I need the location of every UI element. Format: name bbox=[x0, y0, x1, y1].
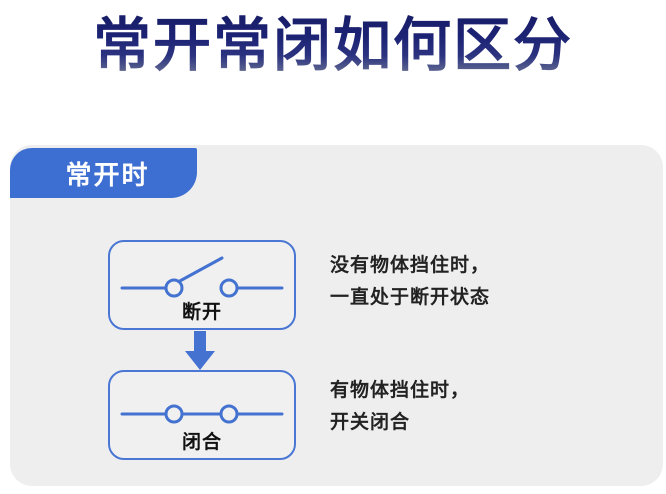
description-closed-line-1: 有物体挡住时， bbox=[330, 375, 470, 407]
description-closed-line-2: 开关闭合 bbox=[330, 407, 470, 439]
arrow-down-icon bbox=[183, 331, 217, 371]
switch-state-label-closed: 闭合 bbox=[110, 427, 294, 454]
description-open-line-2: 一直处于断开状态 bbox=[330, 282, 490, 314]
section-banner: 常开时 bbox=[10, 148, 197, 198]
section-banner-label: 常开时 bbox=[57, 155, 149, 192]
switch-state-label-open: 断开 bbox=[110, 297, 294, 324]
description-closed: 有物体挡住时， 开关闭合 bbox=[330, 375, 470, 439]
page-title: 常开常闭如何区分 bbox=[0, 6, 666, 86]
switch-box-closed: 闭合 bbox=[108, 370, 296, 460]
description-open-line-1: 没有物体挡住时， bbox=[330, 250, 490, 282]
switch-box-open: 断开 bbox=[108, 240, 296, 330]
description-open: 没有物体挡住时， 一直处于断开状态 bbox=[330, 250, 490, 314]
